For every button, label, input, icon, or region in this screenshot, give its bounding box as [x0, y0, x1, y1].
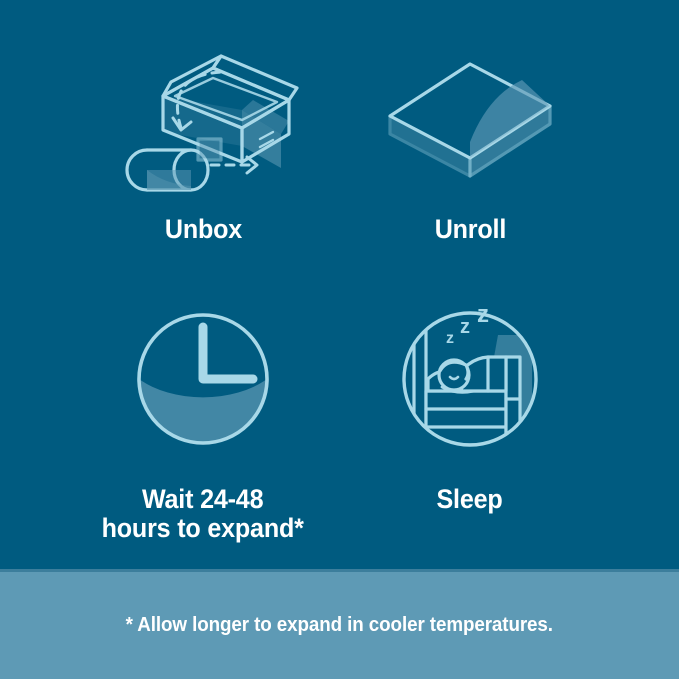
step-label-sleep: Sleep — [437, 485, 503, 514]
footnote-text: * Allow longer to expand in cooler tempe… — [126, 614, 553, 637]
infographic-page: Unbox Unroll — [0, 0, 679, 679]
step-unroll: Unroll — [320, 38, 620, 244]
step-wait: Wait 24-48 hours to expand* — [53, 295, 353, 543]
person-sleeping-in-bed-icon: z z z — [370, 295, 570, 463]
step-label-unroll: Unroll — [434, 215, 505, 244]
clock-icon — [103, 295, 303, 463]
open-box-with-rolled-mattress-icon — [103, 38, 303, 203]
flat-mattress-icon — [370, 38, 570, 203]
steps-grid: Unbox Unroll — [0, 0, 679, 571]
footer-band: * Allow longer to expand in cooler tempe… — [0, 572, 679, 679]
sleep-z-small: z — [446, 330, 454, 347]
sleep-z-medium: z — [460, 316, 470, 338]
step-label-unbox: Unbox — [164, 215, 241, 244]
sleep-z-large: z — [477, 301, 489, 328]
step-label-wait: Wait 24-48 hours to expand* — [102, 485, 304, 543]
step-sleep: z z z Sleep — [320, 295, 620, 514]
step-unbox: Unbox — [53, 38, 353, 244]
